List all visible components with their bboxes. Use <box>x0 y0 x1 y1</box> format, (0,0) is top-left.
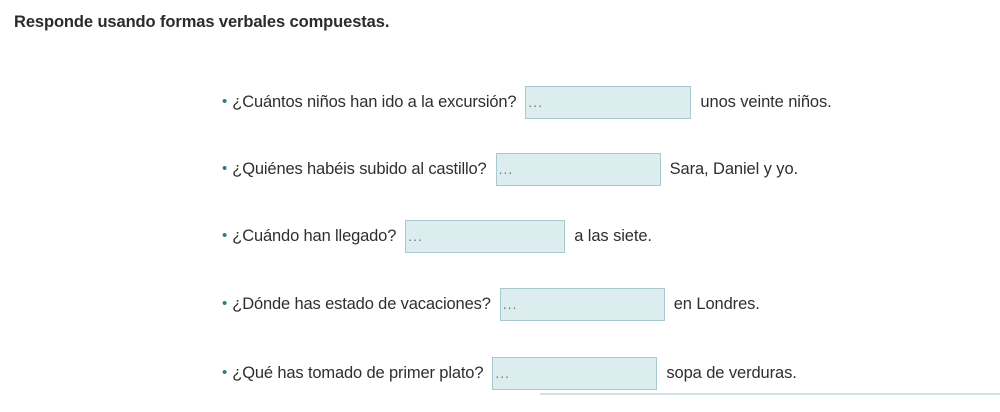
answer-text: Sara, Daniel y yo. <box>670 160 798 179</box>
bullet-icon: • <box>222 365 227 380</box>
question-text: ¿Cuándo han llegado? <box>232 227 396 246</box>
answer-blank-input[interactable] <box>500 288 665 321</box>
answer-blank-input[interactable] <box>496 153 661 186</box>
question-text: ¿Dónde has estado de vacaciones? <box>232 295 490 314</box>
answer-text: a las siete. <box>574 227 652 246</box>
answer-text: en Londres. <box>674 295 760 314</box>
exercise-item: • ¿Dónde has estado de vacaciones? en Lo… <box>222 287 760 321</box>
question-text: ¿Cuántos niños han ido a la excursión? <box>232 93 516 112</box>
exercise-item: • ¿Cuándo han llegado? a las siete. <box>222 219 652 253</box>
exercise-list: • ¿Cuántos niños han ido a la excursión?… <box>0 0 1000 412</box>
worksheet-page: Responde usando formas verbales compuest… <box>0 0 1000 412</box>
question-text: ¿Quiénes habéis subido al castillo? <box>232 160 486 179</box>
bullet-icon: • <box>222 296 227 311</box>
bullet-icon: • <box>222 94 227 109</box>
bottom-divider <box>540 393 1000 395</box>
answer-text: unos veinte niños. <box>700 93 831 112</box>
exercise-item: • ¿Cuántos niños han ido a la excursión?… <box>222 85 832 119</box>
bullet-icon: • <box>222 161 227 176</box>
exercise-item: • ¿Qué has tomado de primer plato? sopa … <box>222 356 797 390</box>
question-text: ¿Qué has tomado de primer plato? <box>232 364 483 383</box>
exercise-item: • ¿Quiénes habéis subido al castillo? Sa… <box>222 152 798 186</box>
answer-blank-input[interactable] <box>492 357 657 390</box>
bullet-icon: • <box>222 228 227 243</box>
answer-text: sopa de verduras. <box>666 364 796 383</box>
answer-blank-input[interactable] <box>405 220 565 253</box>
answer-blank-input[interactable] <box>525 86 691 119</box>
